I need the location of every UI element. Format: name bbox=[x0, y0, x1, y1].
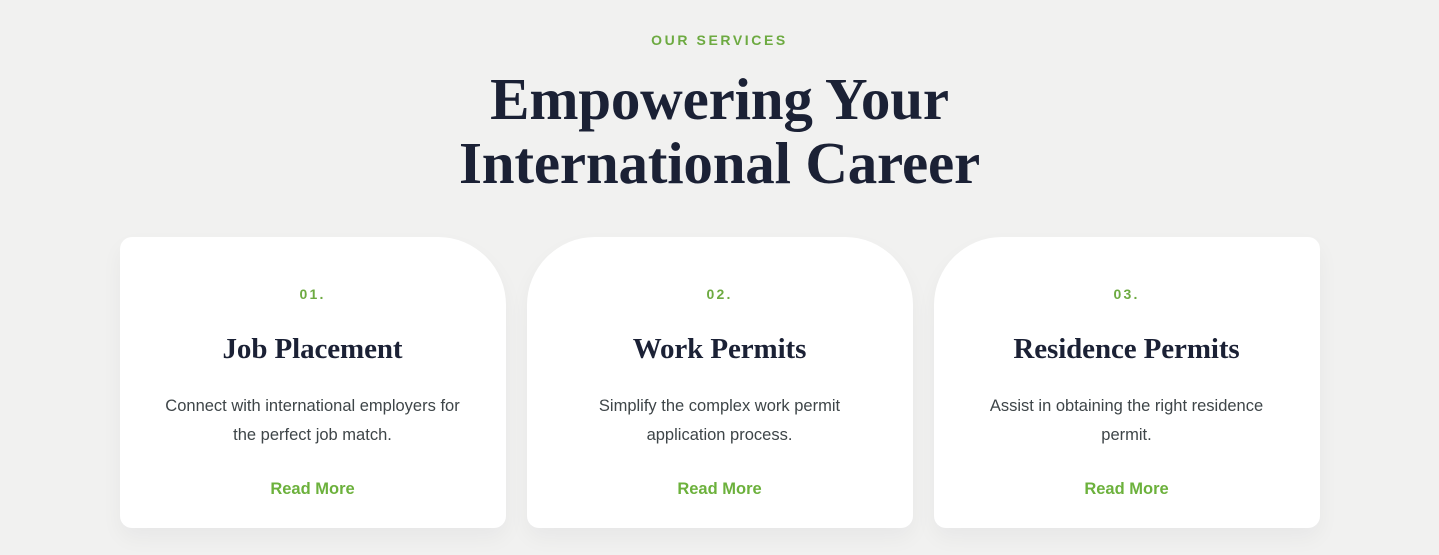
read-more-link[interactable]: Read More bbox=[1084, 481, 1168, 498]
card-number: 03. bbox=[968, 287, 1286, 301]
service-card-job-placement[interactable]: 01. Job Placement Connect with internati… bbox=[120, 237, 506, 528]
read-more-link[interactable]: Read More bbox=[677, 481, 761, 498]
page-title: Empowering Your International Career bbox=[350, 68, 1090, 195]
card-number: 02. bbox=[561, 287, 879, 301]
section-eyebrow: OUR SERVICES bbox=[0, 33, 1439, 47]
card-title: Work Permits bbox=[561, 333, 879, 366]
service-cards-row: 01. Job Placement Connect with internati… bbox=[0, 237, 1439, 529]
card-title: Job Placement bbox=[154, 333, 472, 366]
section-header: OUR SERVICES Empowering Your Internation… bbox=[0, 0, 1439, 195]
card-description: Simplify the complex work permit applica… bbox=[565, 392, 875, 449]
card-description: Assist in obtaining the right residence … bbox=[972, 392, 1282, 449]
card-description: Connect with international employers for… bbox=[158, 392, 468, 449]
services-section: OUR SERVICES Empowering Your Internation… bbox=[0, 0, 1439, 555]
service-card-residence-permits[interactable]: 03. Residence Permits Assist in obtainin… bbox=[934, 237, 1320, 528]
read-more-link[interactable]: Read More bbox=[270, 481, 354, 498]
service-card-work-permits[interactable]: 02. Work Permits Simplify the complex wo… bbox=[527, 237, 913, 528]
card-number: 01. bbox=[154, 287, 472, 301]
card-title: Residence Permits bbox=[968, 333, 1286, 366]
